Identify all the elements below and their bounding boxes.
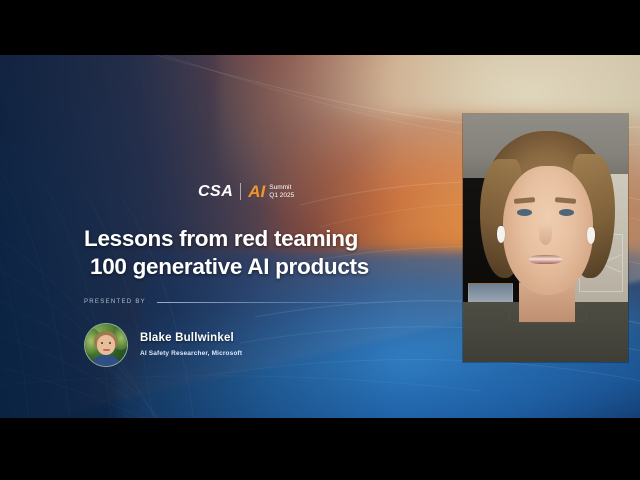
letterbox-bottom <box>0 418 640 480</box>
presented-by-label: PRESENTED BY <box>84 299 146 305</box>
presentation-slide: CSA AI Summit Q1 2025 Lessons from red t… <box>0 55 640 418</box>
webcam-mouth <box>529 255 562 264</box>
slide-title-line-2: 100 generative AI products <box>84 253 369 281</box>
webcam-eye-right <box>559 209 574 215</box>
presented-by-row: PRESENTED BY <box>84 299 384 305</box>
csa-wordmark: CSA <box>198 184 233 200</box>
slide-title-line-1: Lessons from red teaming <box>84 225 369 253</box>
speaker-text: Blake Bullwinkel AI Safety Researcher, M… <box>140 332 242 358</box>
summit-wordmark: Summit Q1 2025 <box>269 184 294 199</box>
avatar <box>84 323 128 367</box>
avatar-face <box>97 335 115 355</box>
presented-by-rule <box>157 302 384 303</box>
letterbox-top <box>0 0 640 55</box>
speaker-block: Blake Bullwinkel AI Safety Researcher, M… <box>84 323 242 367</box>
avatar-mouth <box>103 349 110 351</box>
webcam-earbud-left <box>497 226 505 243</box>
video-player-screen: CSA AI Summit Q1 2025 Lessons from red t… <box>0 0 640 480</box>
webcam-eye-left <box>517 209 532 215</box>
logo-divider <box>240 183 241 200</box>
webcam-earbud-right <box>587 227 595 244</box>
summit-line-1: Summit <box>269 184 294 191</box>
ai-wordmark: AI <box>248 183 265 200</box>
speaker-name: Blake Bullwinkel <box>140 332 242 346</box>
summit-line-2: Q1 2025 <box>269 192 294 199</box>
csa-ai-summit-logo: CSA AI Summit Q1 2025 <box>198 183 294 200</box>
speaker-webcam-feed <box>463 114 628 362</box>
slide-title: Lessons from red teaming 100 generative … <box>84 225 369 281</box>
speaker-role: AI Safety Researcher, Microsoft <box>140 350 242 358</box>
avatar-torso <box>92 355 120 367</box>
